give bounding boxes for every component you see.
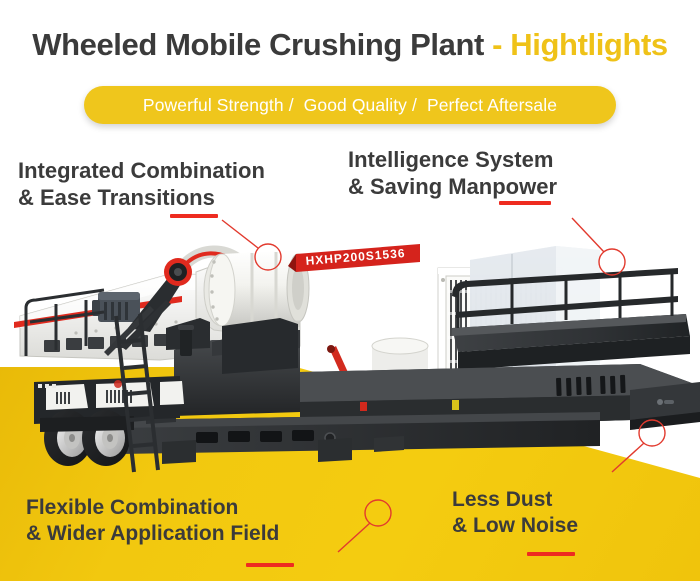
page-title-main: Wheeled Mobile Crushing Plant — [32, 27, 484, 62]
feature-banner-text: Powerful Strength/ Good Quality/ Perfect… — [143, 95, 557, 116]
callout-label-lessdust: Less Dust & Low Noise — [452, 487, 578, 538]
page-title: Wheeled Mobile Crushing Plant - Hightlig… — [0, 26, 700, 64]
callout-flexible-line1: Flexible Combination — [26, 495, 279, 521]
feature-banner: Powerful Strength/ Good Quality/ Perfect… — [84, 86, 616, 124]
feature-separator-1: / — [284, 95, 299, 115]
wheel-assembly — [40, 410, 134, 466]
callout-integrated-line2: & Ease Transitions — [18, 185, 265, 212]
callout-underline-flexible — [246, 563, 294, 567]
callout-underline-integrated — [170, 214, 218, 218]
callout-integrated-line1: Integrated Combination — [18, 158, 265, 185]
feature-item-2: Good Quality — [304, 95, 407, 115]
page-title-accent: Hightlights — [510, 27, 667, 62]
callout-label-integrated: Integrated Combination & Ease Transition… — [18, 158, 265, 212]
callout-label-flexible: Flexible Combination & Wider Application… — [26, 495, 279, 546]
callout-lessdust-line2: & Low Noise — [452, 513, 578, 539]
page-title-dash: - — [484, 27, 510, 62]
callout-intelligence-line2: & Saving Manpower — [348, 174, 557, 201]
callout-flexible-line2: & Wider Application Field — [26, 521, 279, 547]
feature-item-3: Perfect Aftersale — [427, 95, 557, 115]
central-machinery — [166, 318, 300, 416]
callout-intelligence-line1: Intelligence System — [348, 147, 557, 174]
callout-label-intelligence: Intelligence System & Saving Manpower — [348, 147, 557, 201]
model-badge: HXHP200S1536 — [288, 244, 420, 272]
callout-lessdust-line1: Less Dust — [452, 487, 578, 513]
callout-underline-intelligence — [499, 201, 551, 205]
poster-canvas: Wheeled Mobile Crushing Plant - Hightlig… — [0, 0, 700, 581]
callout-underline-lessdust — [527, 552, 575, 556]
feature-separator-2: / — [407, 95, 422, 115]
feature-item-1: Powerful Strength — [143, 95, 284, 115]
